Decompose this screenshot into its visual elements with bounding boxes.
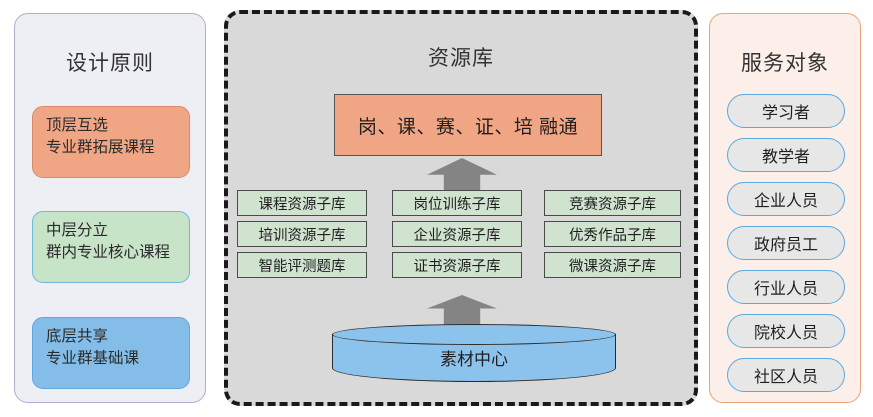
principle-box-bottom-layer-line1: 底层共享 [46, 326, 189, 348]
sub-library-item[interactable]: 竞赛资源子库 [544, 190, 681, 216]
service-target-item[interactable]: 企业人员 [727, 182, 845, 216]
fusion-box[interactable]: 岗、课、赛、证、培 融通 [334, 94, 602, 156]
sub-library-item[interactable]: 岗位训练子库 [392, 190, 522, 216]
sub-library-item[interactable]: 企业资源子库 [392, 221, 522, 247]
service-target-item[interactable]: 行业人员 [727, 270, 845, 304]
principle-box-middle-layer-line2: 群内专业核心课程 [46, 242, 189, 264]
sub-library-item[interactable]: 课程资源子库 [237, 190, 367, 216]
principle-box-bottom-layer-line2: 专业群基础课 [46, 348, 189, 370]
sub-library-column-2: 岗位训练子库 企业资源子库 证书资源子库 [392, 190, 522, 283]
service-targets-list: 学习者 教学者 企业人员 政府员工 行业人员 院校人员 社区人员 [727, 94, 845, 402]
sub-library-item[interactable]: 智能评测题库 [237, 252, 367, 278]
service-target-item[interactable]: 院校人员 [727, 314, 845, 348]
sub-library-item[interactable]: 证书资源子库 [392, 252, 522, 278]
service-target-item[interactable]: 教学者 [727, 138, 845, 172]
principle-box-top-layer[interactable]: 顶层互选 专业群拓展课程 [32, 106, 190, 178]
sub-library-column-3: 竞赛资源子库 优秀作品子库 微课资源子库 [544, 190, 681, 283]
service-targets-panel: 服务对象 学习者 教学者 企业人员 政府员工 行业人员 院校人员 社区人员 [709, 13, 861, 403]
sub-library-item[interactable]: 培训资源子库 [237, 221, 367, 247]
principle-box-middle-layer[interactable]: 中层分立 群内专业核心课程 [32, 211, 190, 283]
service-targets-title: 服务对象 [710, 47, 860, 77]
principle-box-top-layer-line1: 顶层互选 [46, 115, 189, 137]
service-target-item[interactable]: 学习者 [727, 94, 845, 128]
sub-library-item[interactable]: 微课资源子库 [544, 252, 681, 278]
material-center-cylinder[interactable]: 素材中心 [332, 324, 616, 382]
resource-library-panel: 资源库 岗、课、赛、证、培 融通 课程资源子库 培训资源子库 智能评测题库 岗位… [224, 10, 698, 406]
service-target-item[interactable]: 社区人员 [727, 358, 845, 392]
design-principles-panel: 设计原则 顶层互选 专业群拓展课程 中层分立 群内专业核心课程 底层共享 专业群… [14, 13, 206, 403]
resource-library-title: 资源库 [228, 42, 694, 72]
up-arrow-icon-bottom [427, 295, 497, 327]
design-principles-title: 设计原则 [15, 47, 205, 77]
principle-box-top-layer-line2: 专业群拓展课程 [46, 137, 189, 159]
sub-library-column-1: 课程资源子库 培训资源子库 智能评测题库 [237, 190, 367, 283]
sub-library-item[interactable]: 优秀作品子库 [544, 221, 681, 247]
principle-box-middle-layer-line1: 中层分立 [46, 220, 189, 242]
service-target-item[interactable]: 政府员工 [727, 226, 845, 260]
material-center-label: 素材中心 [332, 324, 616, 382]
diagram-canvas: 设计原则 顶层互选 专业群拓展课程 中层分立 群内专业核心课程 底层共享 专业群… [0, 0, 873, 417]
principle-box-bottom-layer[interactable]: 底层共享 专业群基础课 [32, 317, 190, 389]
